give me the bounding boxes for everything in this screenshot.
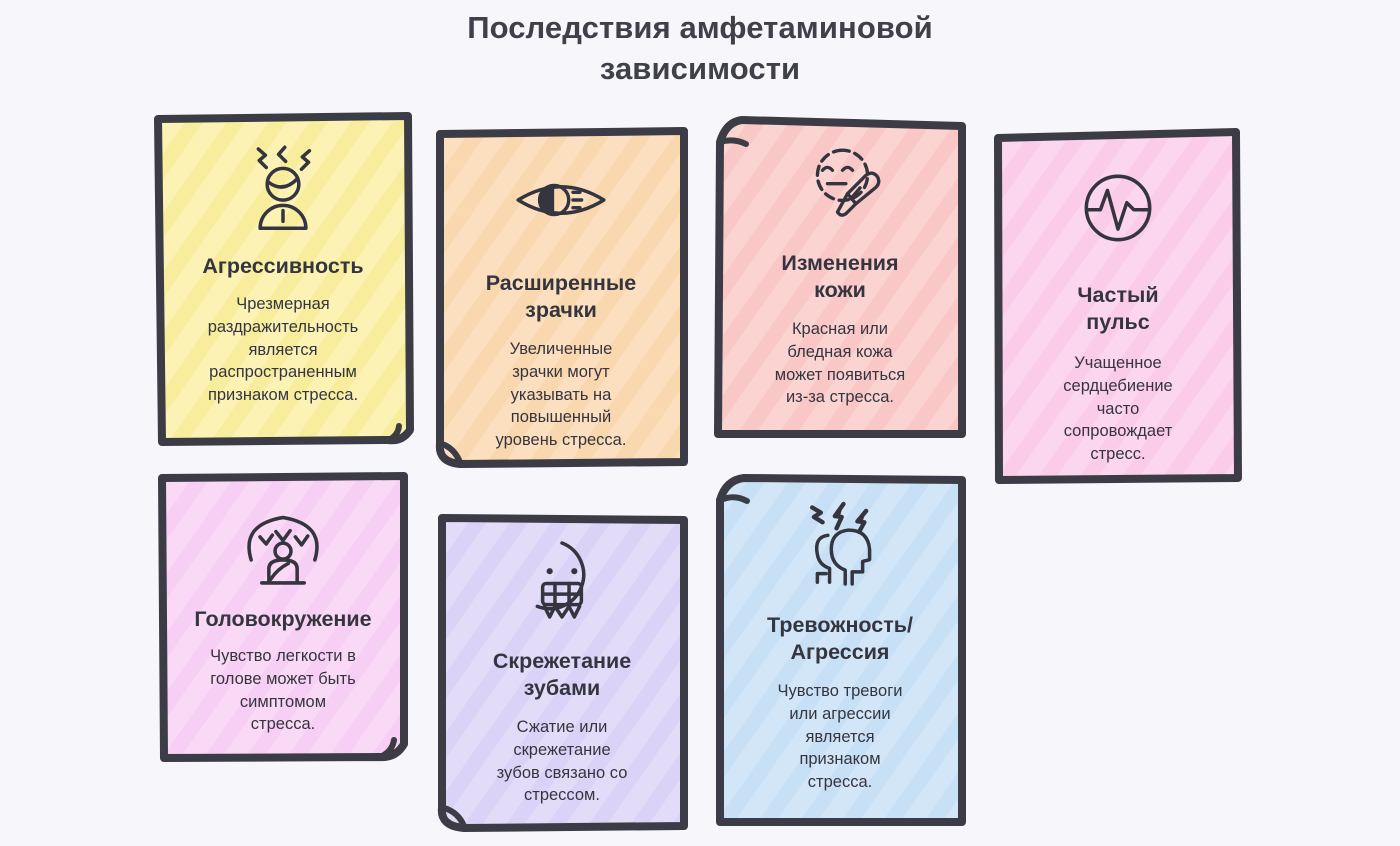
card-body: Красная или бледная кожа может появиться… [775, 318, 906, 409]
card-aggression[interactable]: Агрессивность Чрезмерная раздражительнос… [152, 110, 414, 446]
card-rapid-pulse[interactable]: Частый пульс Учащенное сердцебиение част… [992, 128, 1244, 486]
card-body: Чувство тревоги или агрессии является пр… [778, 680, 903, 794]
grinding-teeth-face-icon [450, 528, 674, 632]
card-title: Изменения кожи [781, 250, 898, 304]
dizzy-person-birds-icon [172, 490, 394, 598]
card-body: Увеличенные зрачки могут указывать на по… [496, 338, 627, 452]
card-body: Чрезмерная раздражительность является ра… [208, 293, 359, 407]
eye-dilated-pupil-icon [448, 152, 674, 248]
card-title: Агрессивность [202, 253, 363, 280]
card-dizziness[interactable]: Головокружение Чувство легкости в голове… [156, 470, 410, 765]
face-makeup-brush-icon [728, 132, 952, 232]
card-title: Скрежетание зубами [493, 648, 631, 702]
page-title-line-2: зависимости [0, 49, 1400, 90]
card-title: Частый пульс [1077, 282, 1158, 336]
card-title: Головокружение [194, 606, 371, 633]
card-anxiety-aggression[interactable]: Тревожность/ Агрессия Чувство тревоги ил… [712, 472, 968, 830]
card-title: Тревожность/ Агрессия [767, 612, 913, 666]
heartbeat-pulse-icon [1008, 158, 1228, 258]
card-body: Сжатие или скрежетание зубов связано со … [497, 716, 628, 807]
card-skin-changes[interactable]: Изменения кожи Красная или бледная кожа … [712, 114, 968, 440]
card-teeth-grinding[interactable]: Скрежетание зубами Сжатие или скрежетани… [434, 512, 690, 834]
page-title: Последствия амфетаминовой зависимости [0, 0, 1400, 90]
two-heads-lightning-icon [728, 494, 952, 594]
card-body: Чувство легкости в голове может быть сим… [210, 645, 356, 736]
page-title-line-1: Последствия амфетаминовой [0, 8, 1400, 49]
angry-person-icon [168, 132, 398, 240]
card-dilated-pupils[interactable]: Расширенные зрачки Увеличенные зрачки мо… [432, 126, 690, 470]
cards-board: Агрессивность Чрезмерная раздражительнос… [0, 0, 1400, 846]
card-body: Учащенное сердцебиение часто сопровождае… [1063, 352, 1172, 466]
card-title: Расширенные зрачки [486, 270, 637, 324]
